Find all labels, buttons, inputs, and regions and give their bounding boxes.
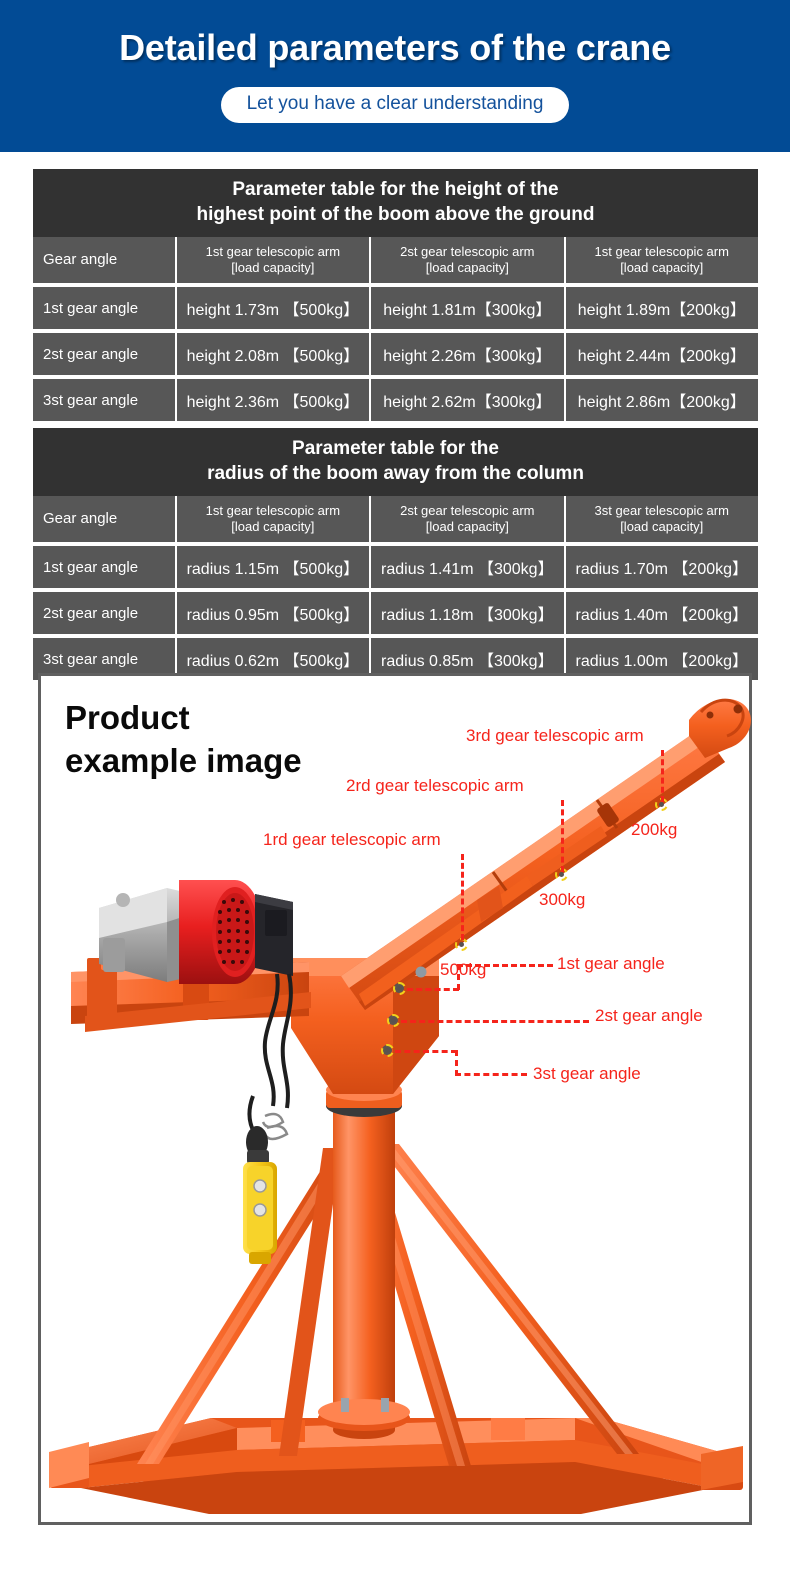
hero-banner: Detailed parameters of the crane Let you…: [0, 0, 790, 152]
header-sublabel: [load capacity]: [595, 519, 729, 535]
column-header-arm-1: 1st gear telescopic arm [load capacity]: [177, 237, 369, 283]
annotation-3rd-gear-telescopic-arm: 3rd gear telescopic arm: [466, 726, 644, 746]
leader-line-angle-2: [401, 1020, 589, 1023]
table-row: 2st gear angle radius 0.95m 【500kg】 radi…: [33, 592, 758, 634]
leader-line-arm-1: [461, 854, 464, 940]
column-header-arm-2: 2st gear telescopic arm [load capacity]: [371, 496, 563, 542]
column-header-arm-1: 1st gear telescopic arm [load capacity]: [177, 496, 369, 542]
leader-line-angle-1a: [407, 988, 459, 991]
header-label: Gear angle: [43, 252, 117, 268]
parameter-table-radius: Parameter table for the radius of the bo…: [33, 428, 758, 680]
crane-illustration: [41, 676, 755, 1528]
leader-line-angle-1b: [457, 964, 553, 990]
table-title-line2: radius of the boom away from the column: [207, 463, 584, 484]
table-title-line1: Parameter table for the height of the: [232, 179, 558, 200]
table-title-radius: Parameter table for the radius of the bo…: [33, 428, 758, 496]
table-cell: height 1.89m【200kg】: [566, 287, 758, 329]
product-example-panel: Product example image: [38, 673, 752, 1525]
table-cell: height 2.36m 【500kg】: [177, 379, 369, 421]
row-label: 1st gear angle: [33, 287, 175, 329]
annotation-2rd-gear-telescopic-arm: 2rd gear telescopic arm: [346, 776, 524, 796]
row-label: 3st gear angle: [33, 379, 175, 421]
pendant-controller: [243, 1096, 277, 1264]
row-label: 2st gear angle: [33, 333, 175, 375]
row-label: 1st gear angle: [33, 546, 175, 588]
header-sublabel: [load capacity]: [400, 260, 534, 276]
table-cell: height 2.44m【200kg】: [566, 333, 758, 375]
annotation-1rd-gear-telescopic-arm: 1rd gear telescopic arm: [263, 830, 441, 850]
table-row: 2st gear angle height 2.08m 【500kg】 heig…: [33, 333, 758, 375]
column-header-arm-3: 1st gear telescopic arm [load capacity]: [566, 237, 758, 283]
column-header-arm-3: 3st gear telescopic arm [load capacity]: [566, 496, 758, 542]
header-sublabel: [load capacity]: [595, 260, 729, 276]
hero-subtitle-pill: Let you have a clear understanding: [221, 87, 570, 123]
header-sublabel: [load capacity]: [206, 519, 340, 535]
table-cell: height 2.08m 【500kg】: [177, 333, 369, 375]
table-cell: radius 1.70m 【200kg】: [566, 546, 758, 588]
leader-line-arm-3: [661, 750, 664, 802]
pin-marker-1st-angle: [393, 982, 406, 995]
table-header-row: Gear angle 1st gear telescopic arm [load…: [33, 496, 758, 542]
table-title-line2: highest point of the boom above the grou…: [197, 204, 595, 225]
table-row: 1st gear angle radius 1.15m 【500kg】 radi…: [33, 546, 758, 588]
table-cell: radius 1.41m 【300kg】: [371, 546, 563, 588]
leader-line-arm-2: [561, 800, 564, 872]
header-label: 1st gear telescopic arm: [206, 503, 340, 519]
page-title: Detailed parameters of the crane: [119, 27, 671, 69]
table-cell: height 1.81m【300kg】: [371, 287, 563, 329]
leader-line-angle-3a: [395, 1050, 457, 1053]
header-sublabel: [load capacity]: [400, 519, 534, 535]
leader-line-angle-3b: [455, 1050, 527, 1076]
annotation-1st-gear-angle: 1st gear angle: [557, 954, 665, 974]
annotation-capacity-200kg: 200kg: [631, 820, 677, 840]
header-label: 2st gear telescopic arm: [400, 503, 534, 519]
annotation-2st-gear-angle: 2st gear angle: [595, 1006, 703, 1026]
header-label: 1st gear telescopic arm: [595, 244, 729, 260]
column-header-gear-angle: Gear angle: [33, 496, 175, 542]
parameter-table-height: Parameter table for the height of the hi…: [33, 169, 758, 421]
header-sublabel: [load capacity]: [206, 260, 340, 276]
column-header-gear-angle: Gear angle: [33, 237, 175, 283]
header-label: 2st gear telescopic arm: [400, 244, 534, 260]
table-title-line1: Parameter table for the: [292, 438, 499, 459]
table-row: 1st gear angle height 1.73m 【500kg】 heig…: [33, 287, 758, 329]
header-label: 1st gear telescopic arm: [206, 244, 340, 260]
pin-marker-2st-angle: [387, 1014, 400, 1027]
pin-marker-3st-angle: [381, 1044, 394, 1057]
column-header-arm-2: 2st gear telescopic arm [load capacity]: [371, 237, 563, 283]
table-cell: height 2.62m【300kg】: [371, 379, 563, 421]
table-title-height: Parameter table for the height of the hi…: [33, 169, 758, 237]
table-cell: radius 0.95m 【500kg】: [177, 592, 369, 634]
annotation-capacity-300kg: 300kg: [539, 890, 585, 910]
page-root: Detailed parameters of the crane Let you…: [0, 0, 790, 1576]
header-label: 3st gear telescopic arm: [595, 503, 729, 519]
table-cell: radius 1.40m 【200kg】: [566, 592, 758, 634]
table-cell: height 2.86m【200kg】: [566, 379, 758, 421]
annotation-3st-gear-angle: 3st gear angle: [533, 1064, 641, 1084]
table-header-row: Gear angle 1st gear telescopic arm [load…: [33, 237, 758, 283]
header-label: Gear angle: [43, 511, 117, 527]
table-cell: height 1.73m 【500kg】: [177, 287, 369, 329]
table-cell: radius 1.15m 【500kg】: [177, 546, 369, 588]
row-label: 2st gear angle: [33, 592, 175, 634]
table-cell: radius 1.18m 【300kg】: [371, 592, 563, 634]
table-cell: height 2.26m【300kg】: [371, 333, 563, 375]
crane-base-frame: [49, 1418, 743, 1514]
table-row: 3st gear angle height 2.36m 【500kg】 heig…: [33, 379, 758, 421]
